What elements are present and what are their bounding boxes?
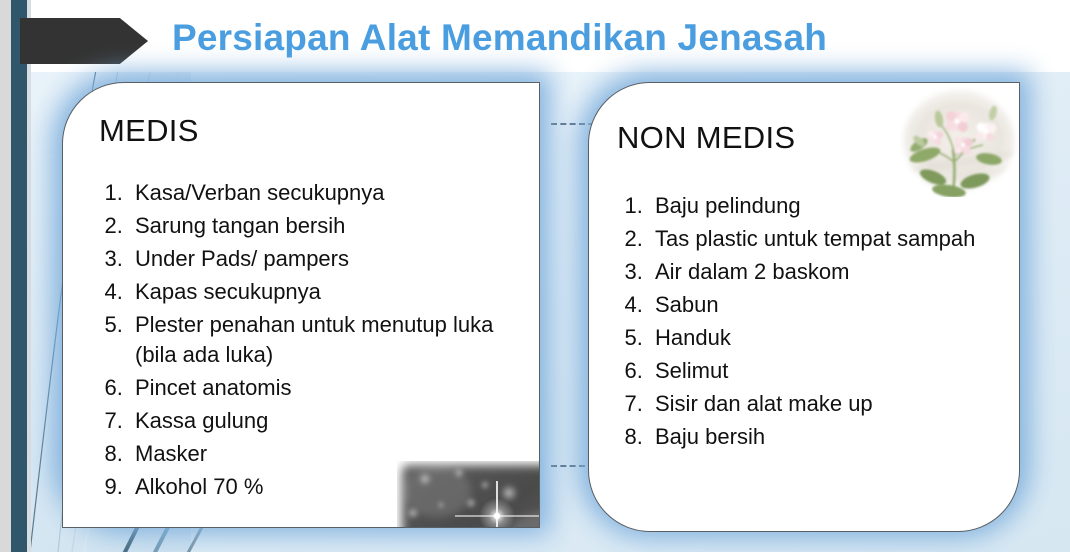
left-accent-bar-highlight: [27, 0, 31, 552]
list-item: Kassa gulung: [129, 406, 539, 436]
card-non-medis[interactable]: NON MEDIS Baju pelindung Tas plastic unt…: [588, 82, 1020, 532]
left-accent-bar: [11, 0, 27, 552]
card-non-medis-heading: NON MEDIS: [617, 120, 795, 156]
card-non-medis-list: Baju pelindung Tas plastic untuk tempat …: [609, 191, 1020, 455]
list-item: Pincet anatomis: [129, 373, 539, 403]
list-item: Selimut: [649, 356, 1020, 386]
list-item: Sabun: [649, 290, 1020, 320]
list-item: Kasa/Verban secukupnya: [129, 178, 539, 208]
list-item: Under Pads/ pampers: [129, 244, 539, 274]
flower-photo: [889, 85, 1020, 197]
list-item: Handuk: [649, 323, 1020, 353]
card-medis[interactable]: MEDIS Kasa/Verban secukupnya Sarung tang…: [62, 82, 540, 528]
card-medis-list: Kasa/Verban secukupnya Sarung tangan ber…: [89, 178, 539, 505]
card-medis-heading: MEDIS: [99, 113, 199, 149]
list-item: Air dalam 2 baskom: [649, 257, 1020, 287]
list-item: Plester penahan untuk menutup luka (bila…: [129, 310, 539, 370]
slide-canvas: Persiapan Alat Memandikan Jenasah MEDIS …: [0, 0, 1070, 552]
list-item: Sarung tangan bersih: [129, 211, 539, 241]
list-item: Baju bersih: [649, 422, 1020, 452]
left-gray-strip: [0, 0, 11, 552]
candles-photo: [397, 461, 540, 528]
list-item: Kapas secukupnya: [129, 277, 539, 307]
page-title: Persiapan Alat Memandikan Jenasah: [172, 14, 1052, 64]
list-item: Sisir dan alat make up: [649, 389, 1020, 419]
list-item: Tas plastic untuk tempat sampah: [649, 224, 1020, 254]
